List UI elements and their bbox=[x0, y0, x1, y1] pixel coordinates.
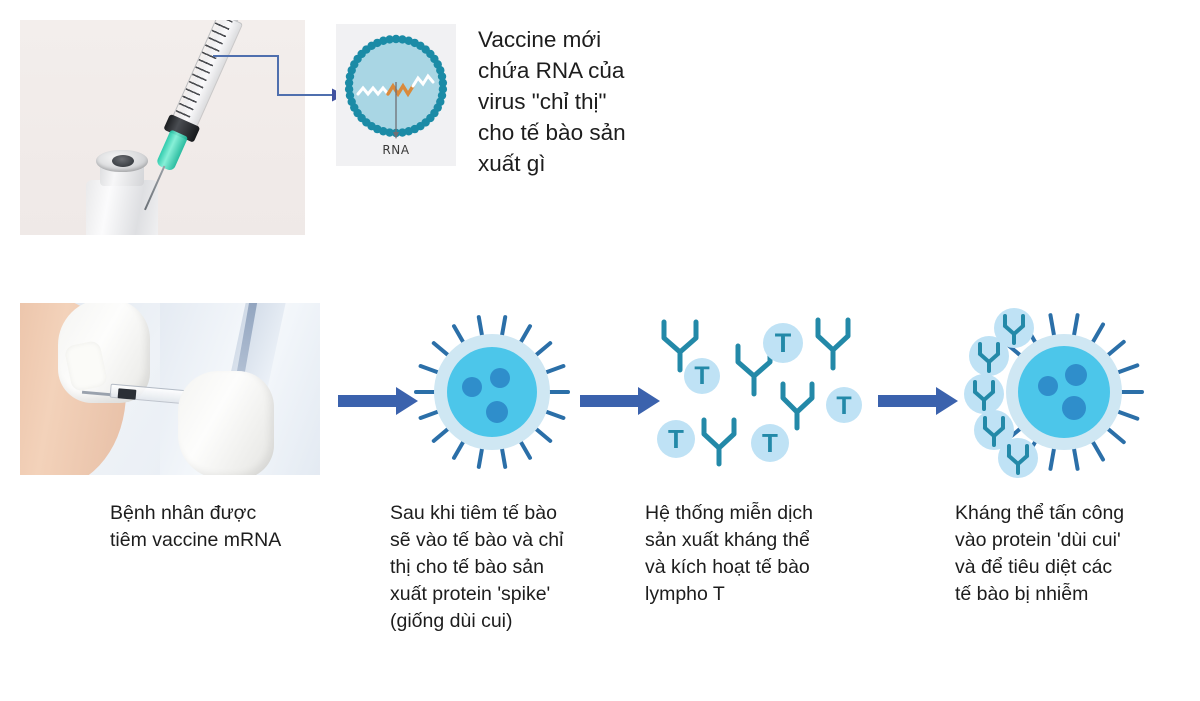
caption-step-4: Kháng thể tấn công vào protein 'dùi cui'… bbox=[955, 500, 1170, 608]
attached-antibody-icon bbox=[998, 438, 1038, 478]
cell-nucleus-dot bbox=[486, 401, 508, 423]
cell-body bbox=[1018, 346, 1110, 438]
caption-3-line-4: lympho T bbox=[645, 581, 860, 608]
caption-1-line-2: tiêm vaccine mRNA bbox=[110, 527, 320, 554]
antibody-icon bbox=[783, 384, 812, 428]
arm-injection-photo bbox=[20, 303, 320, 475]
connector-arrow-syringe-to-virus bbox=[205, 40, 350, 112]
figure-canvas: RNA Vaccine mới chứa RNA của virus "chỉ … bbox=[0, 0, 1200, 701]
tcell-icon: T bbox=[826, 387, 862, 423]
syringe-needle-hub bbox=[155, 129, 188, 171]
cell-nucleus-dot bbox=[490, 368, 510, 388]
cell-attacked-by-antibodies bbox=[946, 302, 1146, 482]
antibody-icon bbox=[738, 346, 770, 394]
top-text-line-3: virus "chỉ thị" bbox=[478, 86, 693, 117]
caption-2-line-1: Sau khi tiêm tế bào bbox=[390, 500, 605, 527]
rna-label: RNA bbox=[336, 143, 456, 157]
vaccine-vial-septum bbox=[112, 155, 134, 167]
caption-4-line-1: Kháng thể tấn công bbox=[955, 500, 1170, 527]
top-text-line-2: chứa RNA của bbox=[478, 55, 693, 86]
cell-nucleus-dot bbox=[1065, 364, 1087, 386]
cell-nucleus-dot bbox=[462, 377, 482, 397]
top-text-line-5: xuất gì bbox=[478, 148, 693, 179]
caption-step-3: Hệ thống miễn dịch sản xuất kháng thể và… bbox=[645, 500, 860, 608]
caption-2-line-4: xuất protein 'spike' bbox=[390, 581, 605, 608]
attached-antibody-icon bbox=[964, 374, 1004, 414]
caption-3-line-2: sản xuất kháng thể bbox=[645, 527, 860, 554]
svg-text:T: T bbox=[668, 424, 684, 454]
antibodies-and-tcells-panel: T T T T T bbox=[650, 308, 870, 473]
svg-text:T: T bbox=[694, 362, 709, 390]
caption-1-line-1: Bệnh nhân được bbox=[110, 500, 320, 527]
top-text-line-4: cho tế bào sản bbox=[478, 117, 693, 148]
tcell-icon: T bbox=[763, 323, 803, 363]
caption-2-line-5: (giống dùi cui) bbox=[390, 608, 605, 635]
cell-nucleus-dot bbox=[1062, 396, 1086, 420]
gloved-hand-lower bbox=[178, 371, 274, 475]
tcell-icon: T bbox=[657, 420, 695, 458]
top-description-text: Vaccine mới chứa RNA của virus "chỉ thị"… bbox=[478, 24, 693, 179]
caption-step-2: Sau khi tiêm tế bào sẽ vào tế bào và chỉ… bbox=[390, 500, 605, 635]
cell-nucleus-dot bbox=[1038, 376, 1058, 396]
antibody-icon bbox=[704, 420, 734, 464]
svg-text:T: T bbox=[762, 428, 778, 458]
caption-4-line-3: và để tiêu diệt các bbox=[955, 554, 1170, 581]
antibody-icon bbox=[818, 320, 848, 368]
caption-4-line-4: tế bào bị nhiễm bbox=[955, 581, 1170, 608]
svg-text:T: T bbox=[836, 392, 851, 420]
caption-2-line-3: thị cho tế bào sản bbox=[390, 554, 605, 581]
arrow-step1-to-step2 bbox=[336, 385, 420, 417]
caption-3-line-3: và kích hoạt tế bào bbox=[645, 554, 860, 581]
tcell-icon: T bbox=[684, 358, 720, 394]
caption-step-1: Bệnh nhân được tiêm vaccine mRNA bbox=[110, 500, 320, 554]
caption-2-line-2: sẽ vào tế bào và chỉ bbox=[390, 527, 605, 554]
attached-antibody-icon bbox=[969, 336, 1009, 376]
infected-cell-producing-spikes bbox=[412, 312, 572, 472]
cell-body bbox=[447, 347, 537, 437]
tcell-icon: T bbox=[751, 424, 789, 462]
top-text-line-1: Vaccine mới bbox=[478, 24, 693, 55]
svg-text:T: T bbox=[775, 328, 792, 358]
caption-3-line-1: Hệ thống miễn dịch bbox=[645, 500, 860, 527]
caption-4-line-2: vào protein 'dùi cui' bbox=[955, 527, 1170, 554]
injection-syringe-plunger bbox=[118, 388, 137, 400]
